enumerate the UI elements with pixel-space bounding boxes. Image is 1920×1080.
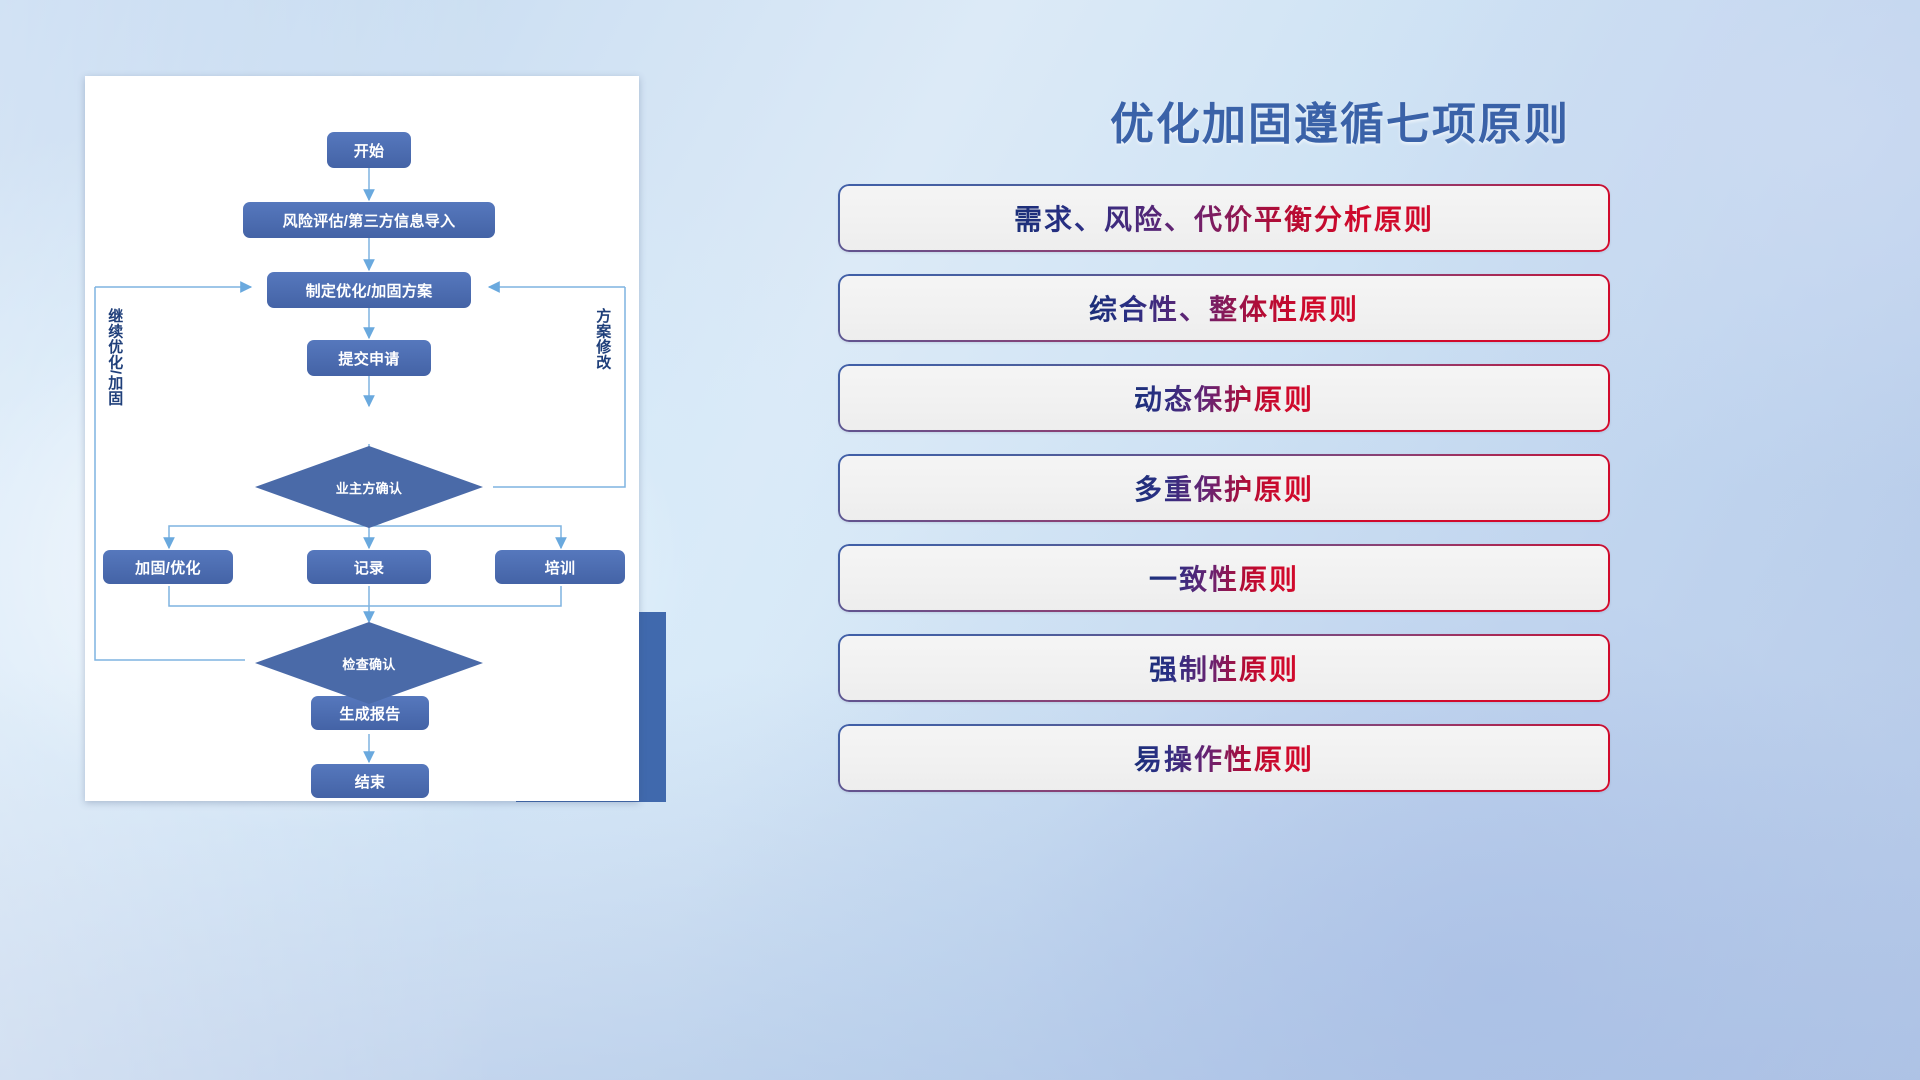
flow-node-record[interactable]: 记录	[307, 550, 431, 584]
flow-node-end[interactable]: 结束	[311, 764, 429, 798]
principle-label: 动态保护原则	[1134, 378, 1314, 418]
page-title: 优化加固遵循七项原则	[760, 88, 1920, 152]
flow-node-owner-confirm[interactable]: 业主方确认	[309, 470, 429, 504]
flow-label-plan-revision: 方案修改	[595, 308, 610, 404]
flowchart-panel: 开始 风险评估/第三方信息导入 制定优化/加固方案 提交申请 业主方确认 加固/…	[0, 0, 720, 1080]
principle-item-4[interactable]: 多重保护原则	[838, 454, 1610, 522]
principle-label: 综合性、整体性原则	[1089, 288, 1359, 328]
principle-label: 易操作性原则	[1134, 738, 1314, 778]
principle-item-1[interactable]: 需求、风险、代价平衡分析原则	[838, 184, 1610, 252]
principle-item-7[interactable]: 易操作性原则	[838, 724, 1610, 792]
principle-label: 多重保护原则	[1134, 468, 1314, 508]
flowchart-diagram	[85, 76, 639, 801]
principle-label: 强制性原则	[1149, 648, 1299, 688]
flow-node-submit-application[interactable]: 提交申请	[307, 340, 431, 376]
flow-node-plan[interactable]: 制定优化/加固方案	[267, 272, 471, 308]
principle-item-6[interactable]: 强制性原则	[838, 634, 1610, 702]
flowchart-card: 开始 风险评估/第三方信息导入 制定优化/加固方案 提交申请 业主方确认 加固/…	[85, 76, 639, 801]
principle-item-2[interactable]: 综合性、整体性原则	[838, 274, 1610, 342]
flow-node-start[interactable]: 开始	[327, 132, 411, 168]
principles-list: 需求、风险、代价平衡分析原则 综合性、整体性原则 动态保护原则 多重保护原则 一…	[838, 184, 1610, 814]
principles-panel: 优化加固遵循七项原则 需求、风险、代价平衡分析原则 综合性、整体性原则 动态保护…	[760, 0, 1920, 1080]
flow-node-risk-assessment[interactable]: 风险评估/第三方信息导入	[243, 202, 495, 238]
principle-label: 需求、风险、代价平衡分析原则	[1014, 198, 1434, 238]
flow-label-continue-optimize: 继续优化/加固	[107, 308, 122, 448]
principle-label: 一致性原则	[1149, 558, 1299, 598]
principle-item-5[interactable]: 一致性原则	[838, 544, 1610, 612]
flow-node-training[interactable]: 培训	[495, 550, 625, 584]
principle-item-3[interactable]: 动态保护原则	[838, 364, 1610, 432]
flow-node-check-confirm[interactable]: 检查确认	[309, 646, 429, 680]
flow-node-generate-report[interactable]: 生成报告	[311, 696, 429, 730]
flow-node-reinforce[interactable]: 加固/优化	[103, 550, 233, 584]
